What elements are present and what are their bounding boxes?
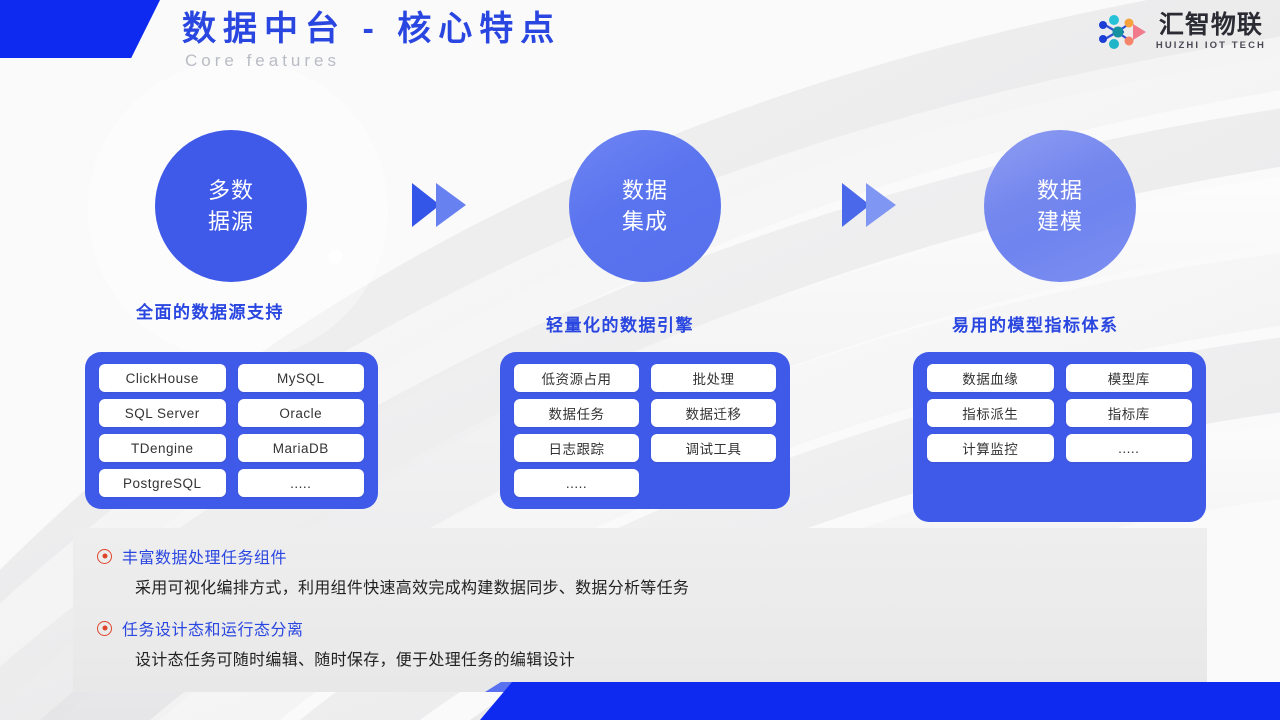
brand-name-cn: 汇智物联 <box>1159 12 1263 39</box>
tag-item-ellipsis[interactable]: ..... <box>238 469 365 497</box>
notes-panel: 丰富数据处理任务组件 采用可视化编排方式，利用组件快速高效完成构建数据同步、数据… <box>73 528 1207 692</box>
tag-row: 低资源占用 批处理 <box>514 364 776 392</box>
note-body: 采用可视化编排方式，利用组件快速高效完成构建数据同步、数据分析等任务 <box>135 574 1207 598</box>
tag-item[interactable]: 调试工具 <box>651 434 776 462</box>
radio-dot-icon <box>97 621 112 636</box>
stage-circle-2[interactable]: 数据 集成 <box>569 130 721 282</box>
brand-logo: 汇智物联 HUIZHI IOT TECH <box>1096 12 1266 52</box>
tag-row: 数据任务 数据迁移 <box>514 399 776 427</box>
stage-circle-3[interactable]: 数据 建模 <box>984 130 1136 282</box>
tag-item[interactable]: TDengine <box>99 434 226 462</box>
tag-panel-1: ClickHouse MySQL SQL Server Oracle TDeng… <box>85 352 378 509</box>
stage-2-line1: 数据 <box>622 175 668 206</box>
note-item: 丰富数据处理任务组件 采用可视化编排方式，利用组件快速高效完成构建数据同步、数据… <box>97 544 1207 598</box>
brand-name-en: HUIZHI IOT TECH <box>1156 39 1266 52</box>
tag-row: 日志跟踪 调试工具 <box>514 434 776 462</box>
flow-arrow-1 <box>410 180 472 235</box>
tag-row: 计算监控 ..... <box>927 434 1192 462</box>
stage-circle-1[interactable]: 多数 据源 <box>155 130 307 282</box>
tag-item[interactable]: PostgreSQL <box>99 469 226 497</box>
tag-item[interactable]: 模型库 <box>1066 364 1193 392</box>
double-triangle-right-icon <box>410 180 472 230</box>
tag-row: SQL Server Oracle <box>99 399 364 427</box>
brand-text: 汇智物联 HUIZHI IOT TECH <box>1156 12 1266 52</box>
tag-item[interactable]: 低资源占用 <box>514 364 639 392</box>
stage-1-line1: 多数 <box>208 175 254 206</box>
column-1-caption: 全面的数据源支持 <box>136 298 284 323</box>
stage-1-line2: 据源 <box>208 206 254 237</box>
tag-item[interactable]: 日志跟踪 <box>514 434 639 462</box>
tag-item[interactable]: 指标库 <box>1066 399 1193 427</box>
tag-row: ..... <box>514 469 776 497</box>
column-2-caption: 轻量化的数据引擎 <box>546 311 694 336</box>
tag-item[interactable]: MariaDB <box>238 434 365 462</box>
header: 数据中台 - 核心特点 Core features <box>182 8 561 71</box>
tag-item[interactable]: 计算监控 <box>927 434 1054 462</box>
stage-3-line2: 建模 <box>1037 206 1083 237</box>
double-triangle-right-icon <box>840 180 902 230</box>
molecule-network-icon <box>1096 12 1152 52</box>
page-subtitle: Core features <box>185 51 561 71</box>
flow-arrow-2 <box>840 180 902 235</box>
tag-item[interactable]: 数据迁移 <box>651 399 776 427</box>
column-3-caption: 易用的模型指标体系 <box>952 311 1119 336</box>
note-body: 设计态任务可随时编辑、随时保存，便于处理任务的编辑设计 <box>135 646 1207 670</box>
footer-accent-slab <box>480 682 1280 720</box>
tag-row: PostgreSQL ..... <box>99 469 364 497</box>
tag-item[interactable]: ClickHouse <box>99 364 226 392</box>
tag-item-ellipsis[interactable]: ..... <box>1066 434 1193 462</box>
tag-row: 指标派生 指标库 <box>927 399 1192 427</box>
tag-row: 数据血缘 模型库 <box>927 364 1192 392</box>
stage-2-line2: 集成 <box>622 206 668 237</box>
tag-item[interactable]: Oracle <box>238 399 365 427</box>
note-title: 任务设计态和运行态分离 <box>122 616 304 640</box>
note-title: 丰富数据处理任务组件 <box>122 544 287 568</box>
radio-dot-icon <box>97 549 112 564</box>
tag-panel-3: 数据血缘 模型库 指标派生 指标库 计算监控 ..... <box>913 352 1206 522</box>
tag-item[interactable]: 批处理 <box>651 364 776 392</box>
stage-3-line1: 数据 <box>1037 175 1083 206</box>
page-title: 数据中台 - 核心特点 <box>182 8 561 50</box>
tag-row: TDengine MariaDB <box>99 434 364 462</box>
tag-item[interactable]: 指标派生 <box>927 399 1054 427</box>
note-item: 任务设计态和运行态分离 设计态任务可随时编辑、随时保存，便于处理任务的编辑设计 <box>97 616 1207 670</box>
decorative-dot <box>329 250 342 263</box>
tag-item[interactable]: 数据任务 <box>514 399 639 427</box>
note-heading: 丰富数据处理任务组件 <box>97 544 1207 568</box>
tag-item[interactable]: SQL Server <box>99 399 226 427</box>
note-heading: 任务设计态和运行态分离 <box>97 616 1207 640</box>
tag-panel-2: 低资源占用 批处理 数据任务 数据迁移 日志跟踪 调试工具 ..... <box>500 352 790 509</box>
tag-item[interactable]: 数据血缘 <box>927 364 1054 392</box>
tag-item[interactable]: MySQL <box>238 364 365 392</box>
tag-item-ellipsis[interactable]: ..... <box>514 469 639 497</box>
tag-row: ClickHouse MySQL <box>99 364 364 392</box>
